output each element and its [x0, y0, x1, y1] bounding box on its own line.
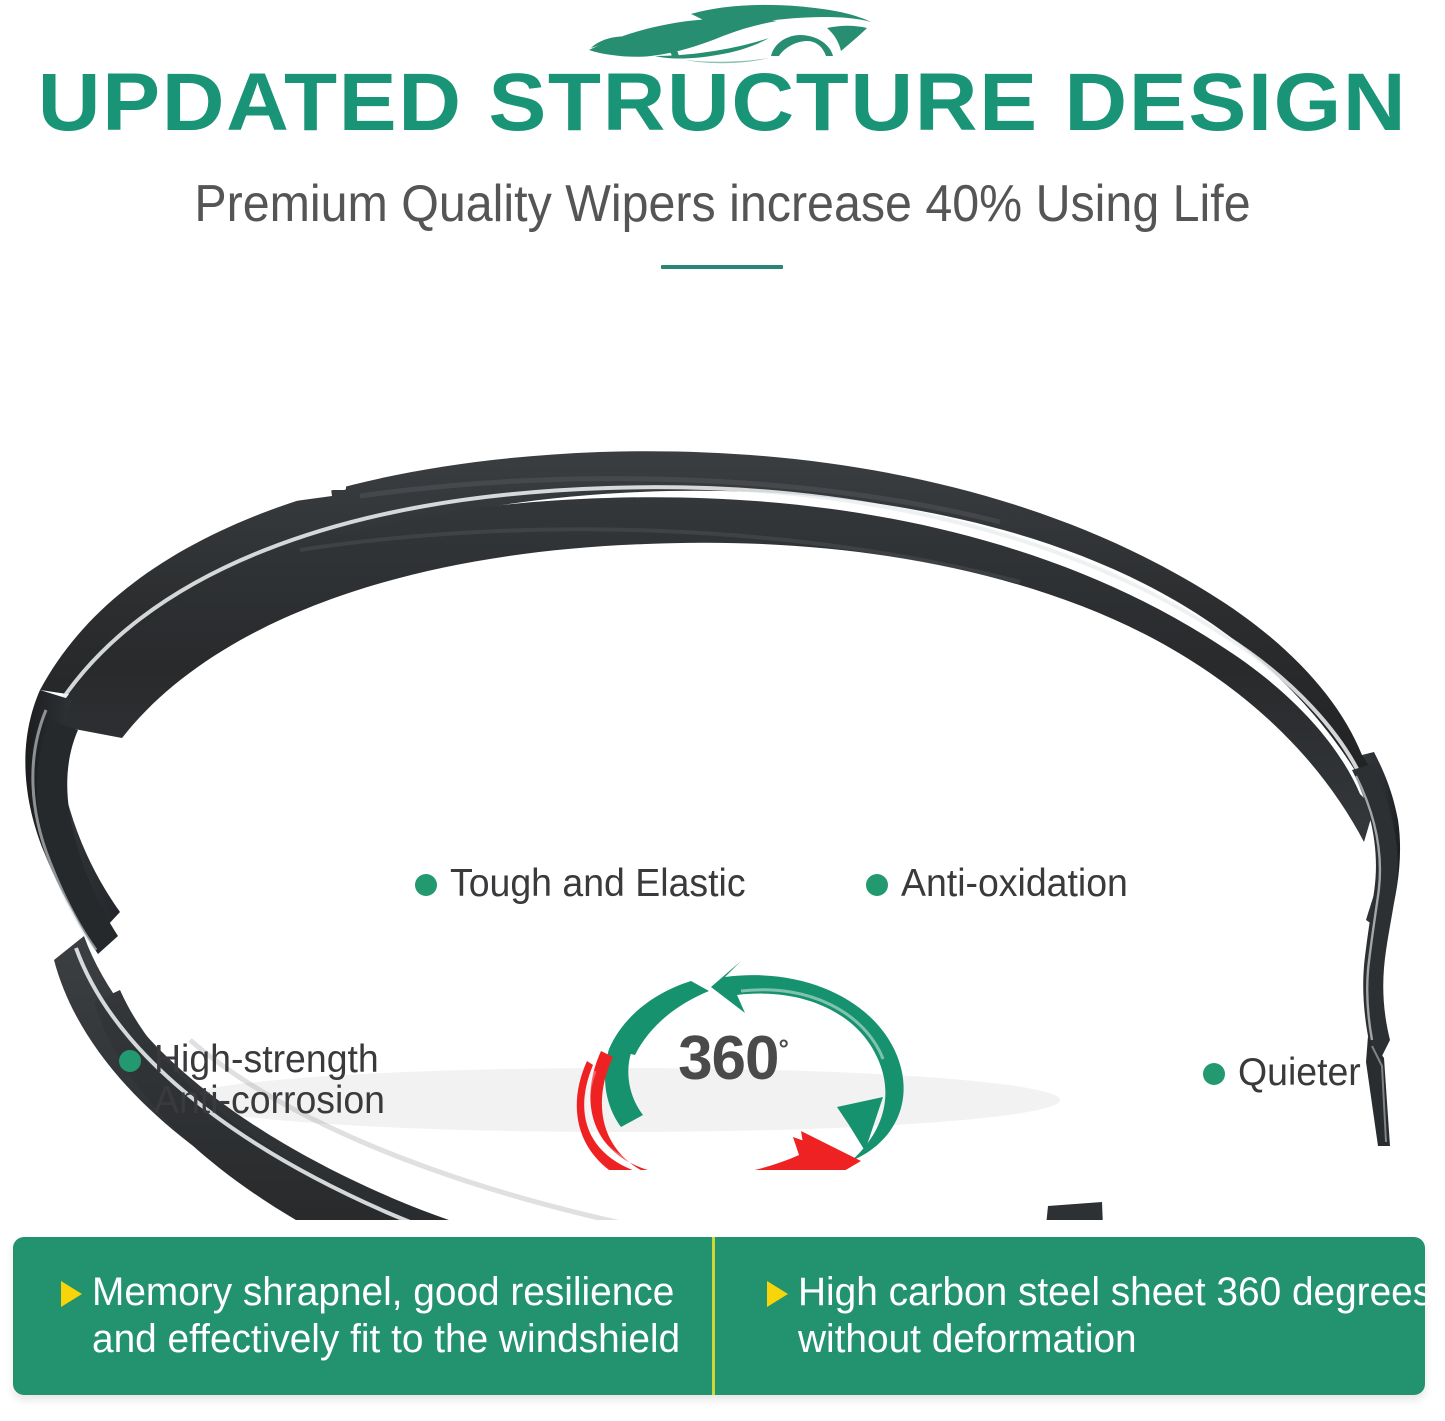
- feature-callout-high-strength-anti-corrosion: High-strength Anti-corrosion: [119, 1039, 395, 1121]
- page-title: UPDATED STRUCTURE DESIGN: [0, 62, 1445, 144]
- feature-label: High-strength Anti-corrosion: [154, 1039, 385, 1121]
- triangle-bullet-icon: [767, 1281, 788, 1307]
- banner-item-text: Memory shrapnel, good resilience and eff…: [92, 1269, 680, 1363]
- feature-label: Anti-oxidation: [901, 863, 1128, 904]
- banner-item-high-carbon-steel: High carbon steel sheet 360 degrees with…: [712, 1237, 1445, 1395]
- triangle-bullet-icon: [61, 1281, 82, 1307]
- title-divider: [661, 265, 783, 269]
- page-subtitle: Premium Quality Wipers increase 40% Usin…: [51, 175, 1395, 233]
- bullet-dot-icon: [415, 874, 437, 896]
- feature-label: Quieter: [1238, 1052, 1361, 1093]
- banner-item-memory-shrapnel: Memory shrapnel, good resilience and eff…: [13, 1237, 712, 1395]
- feature-label: Tough and Elastic: [450, 863, 746, 904]
- bullet-dot-icon: [1203, 1063, 1225, 1085]
- feature-callout-tough-and-elastic: Tough and Elastic: [415, 863, 758, 904]
- 360-rotation-arrows-icon: [565, 955, 925, 1170]
- banner-item-text: High carbon steel sheet 360 degrees with…: [798, 1269, 1432, 1363]
- bullet-dot-icon: [119, 1050, 141, 1072]
- 360-degree-badge: 360°: [565, 955, 925, 1170]
- header: UPDATED STRUCTURE DESIGN Premium Quality…: [0, 0, 1445, 300]
- bullet-dot-icon: [866, 874, 888, 896]
- bottom-feature-banner: Memory shrapnel, good resilience and eff…: [13, 1237, 1425, 1395]
- product-image-area: 360° Tough and Elastic Anti-oxidation Hi…: [0, 300, 1445, 1220]
- feature-callout-anti-oxidation: Anti-oxidation: [866, 863, 1137, 904]
- feature-callout-quieter: Quieter: [1203, 1052, 1366, 1093]
